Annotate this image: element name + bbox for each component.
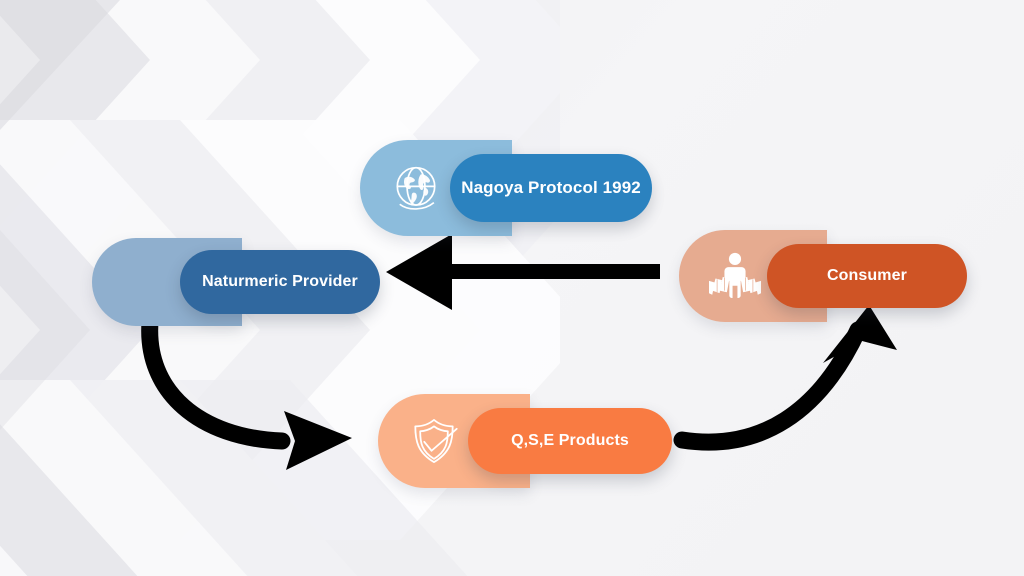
node-naturmeric-provider[interactable]: Naturmeric Provider <box>92 238 380 326</box>
arrow-provider-to-products <box>150 322 352 470</box>
node-nagoya-label: Nagoya Protocol 1992 <box>461 178 641 198</box>
node-nagoya-protocol[interactable]: Nagoya Protocol 1992 <box>360 140 652 236</box>
node-products-pill[interactable]: Q,S,E Products <box>468 408 672 474</box>
globe-icon <box>390 162 442 214</box>
node-consumer[interactable]: Consumer <box>679 230 967 322</box>
node-provider-label: Naturmeric Provider <box>202 273 358 291</box>
arrow-products-to-consumer <box>682 305 897 442</box>
arrow-consumer-to-provider <box>386 234 660 310</box>
node-consumer-pill[interactable]: Consumer <box>767 244 967 308</box>
node-consumer-label: Consumer <box>827 267 907 285</box>
node-qse-products[interactable]: Q,S,E Products <box>378 394 672 488</box>
node-products-label: Q,S,E Products <box>511 432 629 450</box>
shopper-with-bags-icon <box>709 250 761 302</box>
shield-check-icon <box>408 415 460 467</box>
diagram-canvas: Nagoya Protocol 1992 Naturmeric Provider <box>0 0 1024 576</box>
node-provider-pill[interactable]: Naturmeric Provider <box>180 250 380 314</box>
node-nagoya-pill[interactable]: Nagoya Protocol 1992 <box>450 154 652 222</box>
